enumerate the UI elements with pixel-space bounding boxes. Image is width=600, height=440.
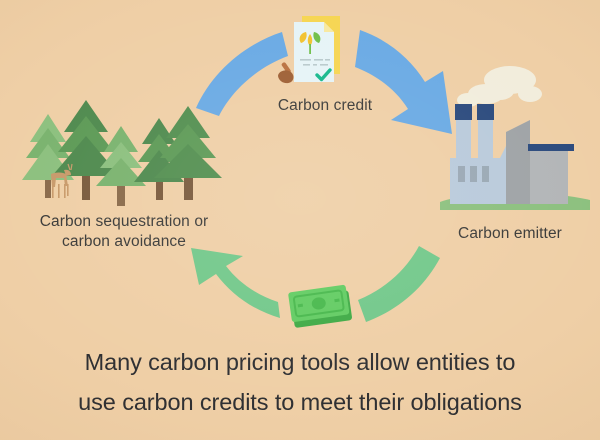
- factory-windows-icon: [458, 166, 489, 182]
- chimney-cap-icon: [477, 104, 494, 120]
- caption-line-1: Many carbon pricing tools allow entities…: [0, 342, 600, 382]
- arrow-emitter-to-money-icon: [358, 246, 440, 322]
- caption-line-2: use carbon credits to meet their obligat…: [0, 382, 600, 422]
- rubber-stamp-icon: [278, 62, 293, 84]
- label-carbon-credit: Carbon credit: [245, 96, 405, 116]
- tree-icon: [96, 126, 146, 206]
- caption: Many carbon pricing tools allow entities…: [0, 342, 600, 422]
- label-carbon-emitter: Carbon emitter: [420, 224, 600, 244]
- factory-tower-icon: [506, 120, 530, 204]
- certificate-icon: [276, 12, 366, 92]
- factory-annex-icon: [530, 148, 568, 204]
- arrow-money-to-forest-icon: [191, 248, 280, 318]
- carbon-credit-cycle-infographic: Carbon credit Carbon sequestration or ca…: [0, 0, 600, 440]
- smoke-icon: [457, 66, 542, 107]
- money-icon: [282, 276, 362, 334]
- label-carbon-sequestration: Carbon sequestration or carbon avoidance: [8, 212, 240, 252]
- factory-navy-bar-icon: [528, 144, 574, 151]
- tree-icon: [154, 106, 222, 200]
- factory-icon: [438, 58, 600, 218]
- forest-icon: [4, 96, 234, 212]
- chimney-cap-icon: [455, 104, 472, 120]
